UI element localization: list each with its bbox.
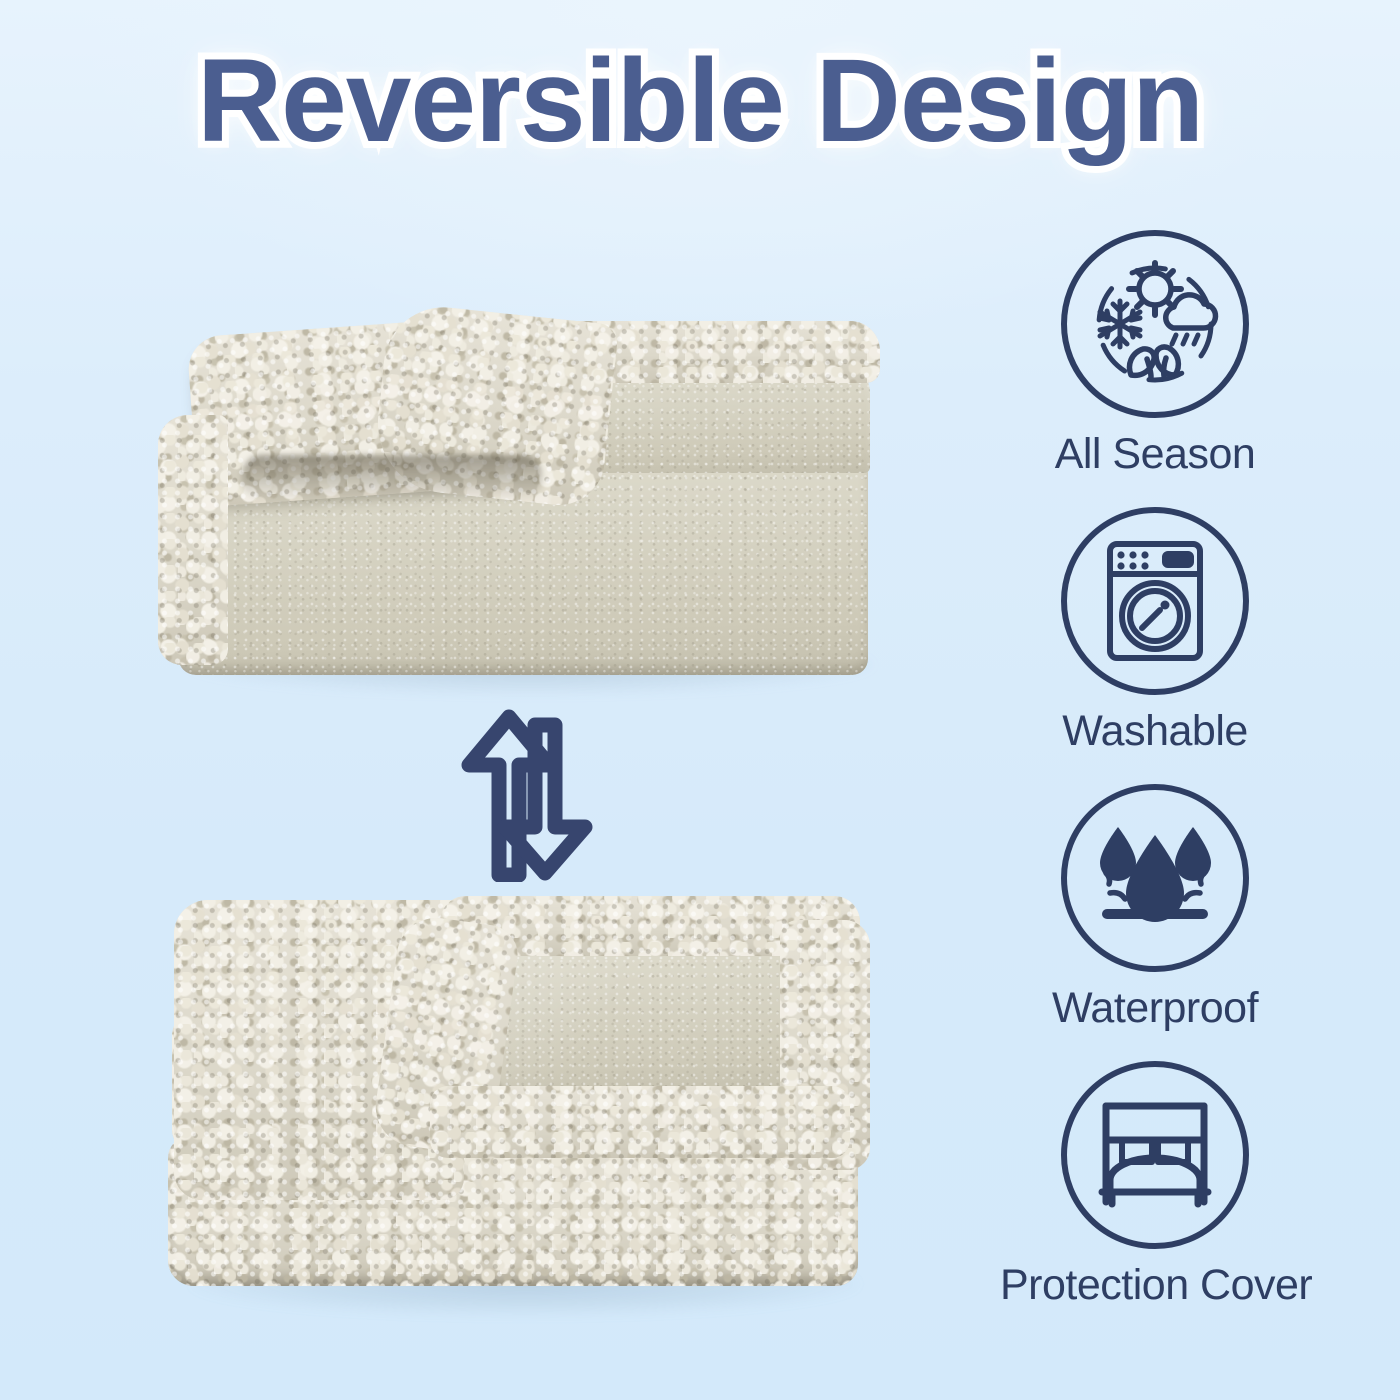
feature-list: All Season Washable bbox=[1000, 230, 1310, 1310]
top-blanket-image bbox=[130, 305, 890, 690]
bed-headboard bbox=[1106, 1106, 1204, 1140]
machine-drum-dot bbox=[1161, 601, 1170, 610]
bottom-blanket-lower-band bbox=[430, 1086, 850, 1158]
bottom-blanket-image bbox=[150, 890, 890, 1310]
feature-all-season[interactable]: All Season bbox=[1000, 230, 1310, 479]
top-blanket-sherpa-left-edge bbox=[158, 415, 228, 665]
surface-bar bbox=[1102, 909, 1208, 919]
feature-label-all-season: All Season bbox=[1000, 430, 1310, 479]
waterproof-icon-circle bbox=[1061, 784, 1249, 972]
washable-icon-circle bbox=[1061, 507, 1249, 695]
all-season-icon bbox=[1080, 249, 1230, 399]
machine-display bbox=[1164, 553, 1192, 566]
feature-label-protection-cover: Protection Cover bbox=[1000, 1261, 1310, 1310]
washing-machine-icon bbox=[1080, 526, 1230, 676]
machine-drum-swirl bbox=[1142, 610, 1160, 628]
top-blanket-fold-shadow bbox=[242, 455, 542, 501]
bed-mattress bbox=[1110, 1158, 1200, 1192]
feature-waterproof[interactable]: Waterproof bbox=[1000, 784, 1310, 1033]
all-season-icon-circle bbox=[1061, 230, 1249, 418]
feature-label-washable: Washable bbox=[1000, 707, 1310, 756]
feature-washable[interactable]: Washable bbox=[1000, 507, 1310, 756]
feature-label-waterproof: Waterproof bbox=[1000, 984, 1310, 1033]
water-droplets-icon bbox=[1080, 803, 1230, 953]
feature-protection-cover[interactable]: Protection Cover bbox=[1000, 1061, 1310, 1310]
infographic-canvas: Reversible Design bbox=[0, 0, 1400, 1400]
reversible-swap-arrows bbox=[447, 707, 607, 882]
control-panel-buttons bbox=[1117, 551, 1148, 569]
leaves-icon bbox=[1130, 347, 1179, 377]
snowflake-icon bbox=[1100, 301, 1140, 347]
bed-icon bbox=[1080, 1080, 1230, 1230]
protection-cover-icon-circle bbox=[1061, 1061, 1249, 1249]
droplet-large bbox=[1126, 835, 1184, 922]
page-title: Reversible Design bbox=[0, 38, 1400, 165]
